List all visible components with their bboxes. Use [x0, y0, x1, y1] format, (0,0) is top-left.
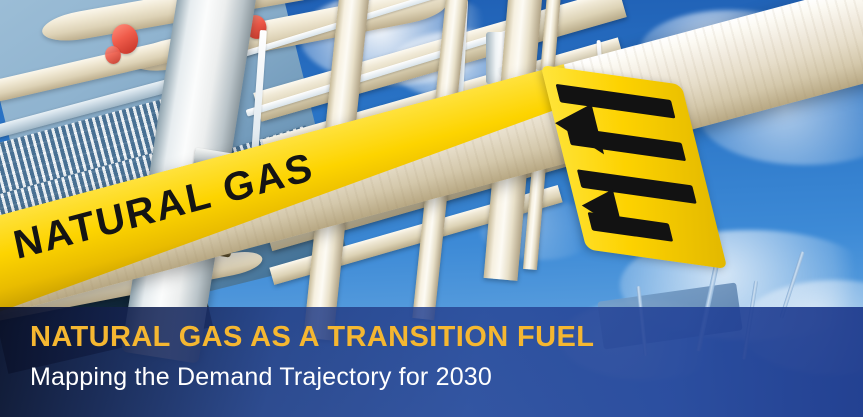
title-overlay-band: NATURAL GAS AS A TRANSITION FUEL Mapping… — [0, 307, 863, 417]
overlay-content: NATURAL GAS AS A TRANSITION FUEL Mapping… — [30, 307, 843, 417]
collar-stripe — [587, 212, 673, 242]
page-title: NATURAL GAS AS A TRANSITION FUEL — [30, 323, 594, 352]
page-subtitle: Mapping the Demand Trajectory for 2030 — [30, 365, 492, 390]
collar-stripe — [566, 127, 686, 162]
natural-gas-hero-banner: ◀ NATURAL GAS NATURAL GAS AS A TRANSITIO… — [0, 0, 863, 417]
